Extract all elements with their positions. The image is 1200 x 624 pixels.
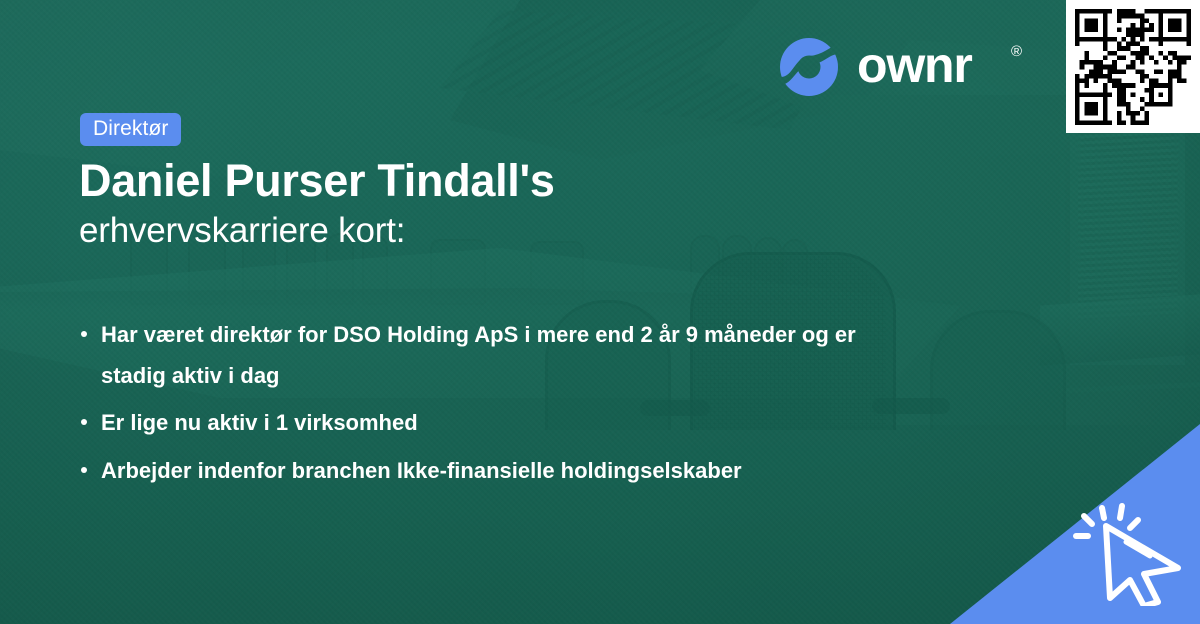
business-card-banner: Direktør Daniel Purser Tindall's erhverv…	[0, 0, 1200, 624]
bullet-dot-icon	[81, 419, 87, 425]
list-item-text: Arbejder indenfor branchen Ikke-finansie…	[101, 458, 742, 483]
career-facts-list: Har været direktør for DSO Holding ApS i…	[80, 315, 880, 499]
qr-code-icon	[1075, 9, 1191, 125]
registered-trademark-icon: ®	[1011, 44, 1022, 59]
list-item-text: Har været direktør for DSO Holding ApS i…	[101, 322, 856, 388]
ownr-wordmark: ownr	[857, 40, 972, 90]
card-content: Direktør Daniel Purser Tindall's erhverv…	[0, 0, 1200, 624]
ownr-logo[interactable]: ownr ®	[779, 34, 1029, 100]
list-item: Arbejder indenfor branchen Ikke-finansie…	[80, 451, 880, 492]
ownr-circle-swoosh-icon	[779, 37, 839, 97]
list-item: Er lige nu aktiv i 1 virksomhed	[80, 403, 880, 444]
role-badge: Direktør	[80, 113, 181, 146]
qr-code[interactable]	[1066, 0, 1200, 133]
click-cursor-icon	[1066, 494, 1186, 606]
list-item: Har været direktør for DSO Holding ApS i…	[80, 315, 861, 396]
bullet-dot-icon	[81, 467, 87, 473]
page-title: Daniel Purser Tindall's	[79, 157, 555, 204]
bullet-dot-icon	[81, 331, 87, 337]
page-subtitle: erhvervskarriere kort:	[79, 212, 405, 251]
list-item-text: Er lige nu aktiv i 1 virksomhed	[101, 410, 418, 435]
